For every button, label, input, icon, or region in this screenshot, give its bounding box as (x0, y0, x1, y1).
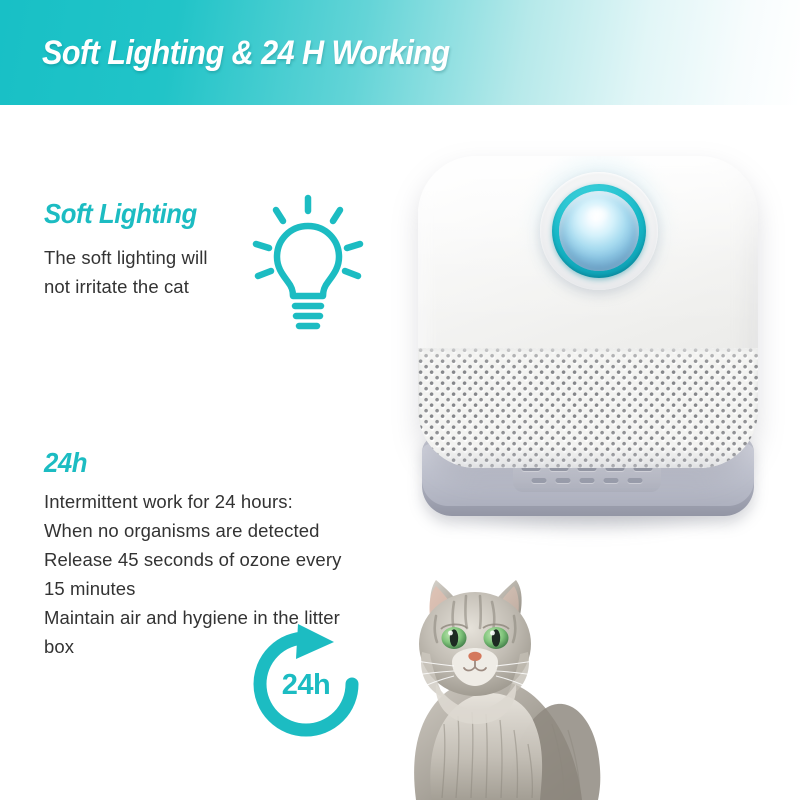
cat-eye-highlight-right (490, 631, 495, 636)
section-body-soft-lighting: The soft lighting will not irritate the … (44, 243, 274, 301)
vent-slot (556, 478, 571, 483)
cat-photo (392, 568, 652, 800)
header-banner: Soft Lighting & 24 H Working (0, 0, 800, 105)
section-heading-soft-lighting: Soft Lighting (44, 198, 197, 230)
vent-slot (604, 478, 619, 483)
product-device (392, 148, 782, 548)
24h-cycle-icon: 24h (246, 624, 366, 744)
power-button-ring (552, 184, 646, 278)
page-title: Soft Lighting & 24 H Working (42, 34, 450, 73)
24h-icon-label: 24h (246, 624, 366, 744)
power-button[interactable] (540, 172, 658, 290)
infographic-page: Soft Lighting & 24 H Working Soft Lighti… (0, 0, 800, 800)
lightbulb-icon (252, 190, 364, 335)
power-button-highlight (585, 205, 611, 223)
vent-slot (532, 478, 547, 483)
perforated-vent-panel (418, 348, 758, 468)
section-heading-24h: 24h (44, 447, 87, 479)
power-button-dome (559, 191, 639, 271)
vent-slot (628, 478, 643, 483)
vent-slot (580, 478, 595, 483)
device-body (418, 156, 758, 468)
cat-eye-highlight-left (448, 631, 453, 636)
device-vent-row-bottom (532, 478, 643, 483)
